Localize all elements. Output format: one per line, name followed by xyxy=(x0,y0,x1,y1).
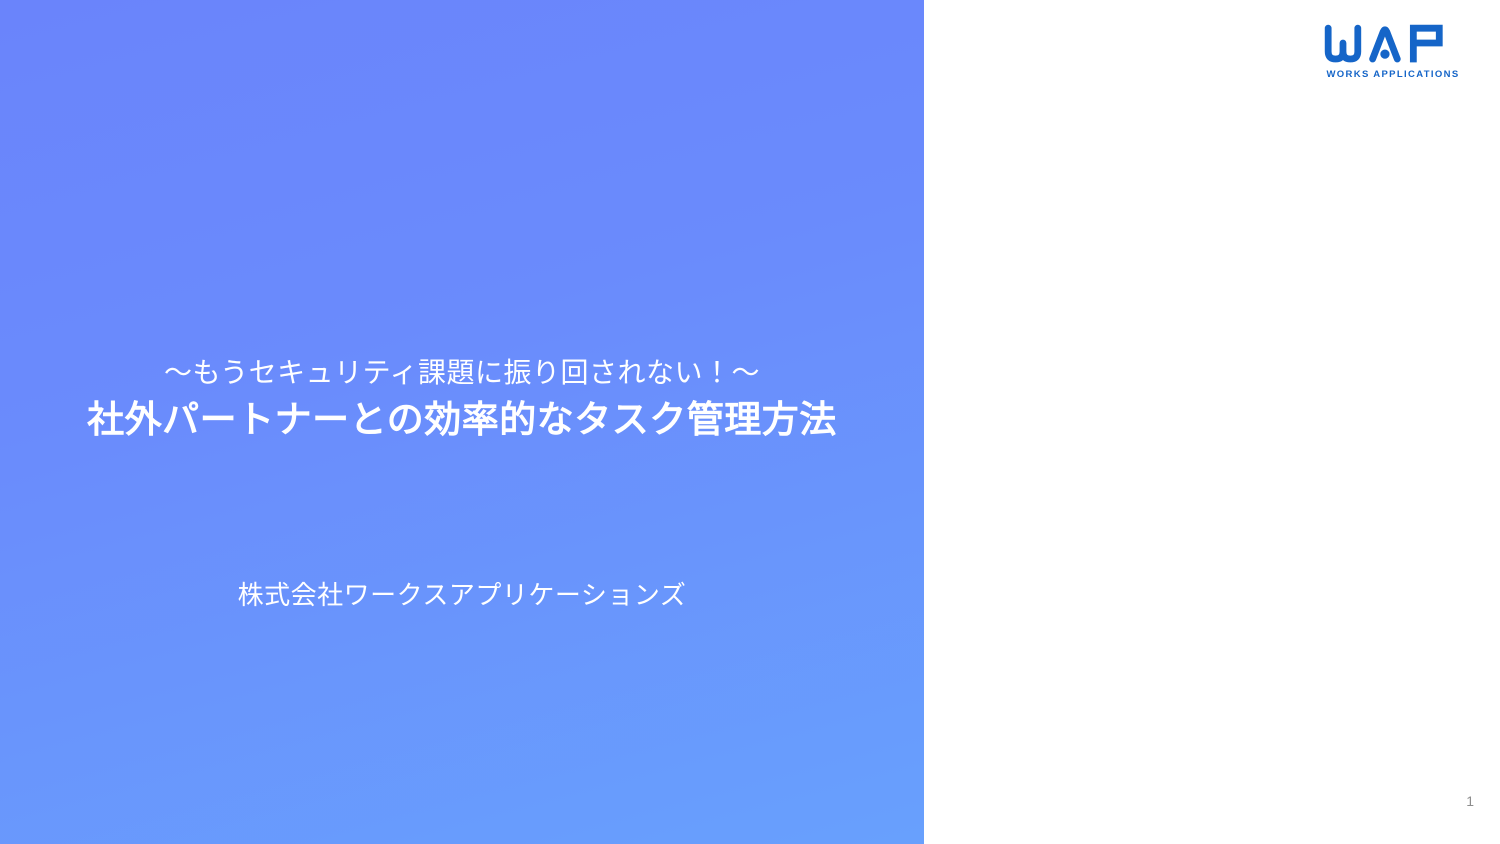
slide-title-line: 社外パートナーとの効率的なタスク管理方法 xyxy=(0,394,924,446)
left-color-panel: ～もうセキュリティ課題に振り回されない！～ 社外パートナーとの効率的なタスク管理… xyxy=(0,0,924,844)
brand-tagline: WORKS APPLICATIONS xyxy=(1322,69,1464,80)
company-block: 株式会社ワークスアプリケーションズ xyxy=(0,578,924,612)
page-number: 1 xyxy=(1466,794,1474,808)
slide-subtitle-line: ～もうセキュリティ課題に振り回されない！～ xyxy=(0,352,924,394)
title-block: ～もうセキュリティ課題に振り回されない！～ 社外パートナーとの効率的なタスク管理… xyxy=(0,352,924,446)
right-white-panel: WORKS APPLICATIONS xyxy=(924,0,1500,844)
wap-logo-icon xyxy=(1322,22,1464,66)
title-slide: ～もうセキュリティ課題に振り回されない！～ 社外パートナーとの効率的なタスク管理… xyxy=(0,0,1500,844)
company-name: 株式会社ワークスアプリケーションズ xyxy=(0,578,924,612)
brand-logo: WORKS APPLICATIONS xyxy=(1322,22,1464,80)
